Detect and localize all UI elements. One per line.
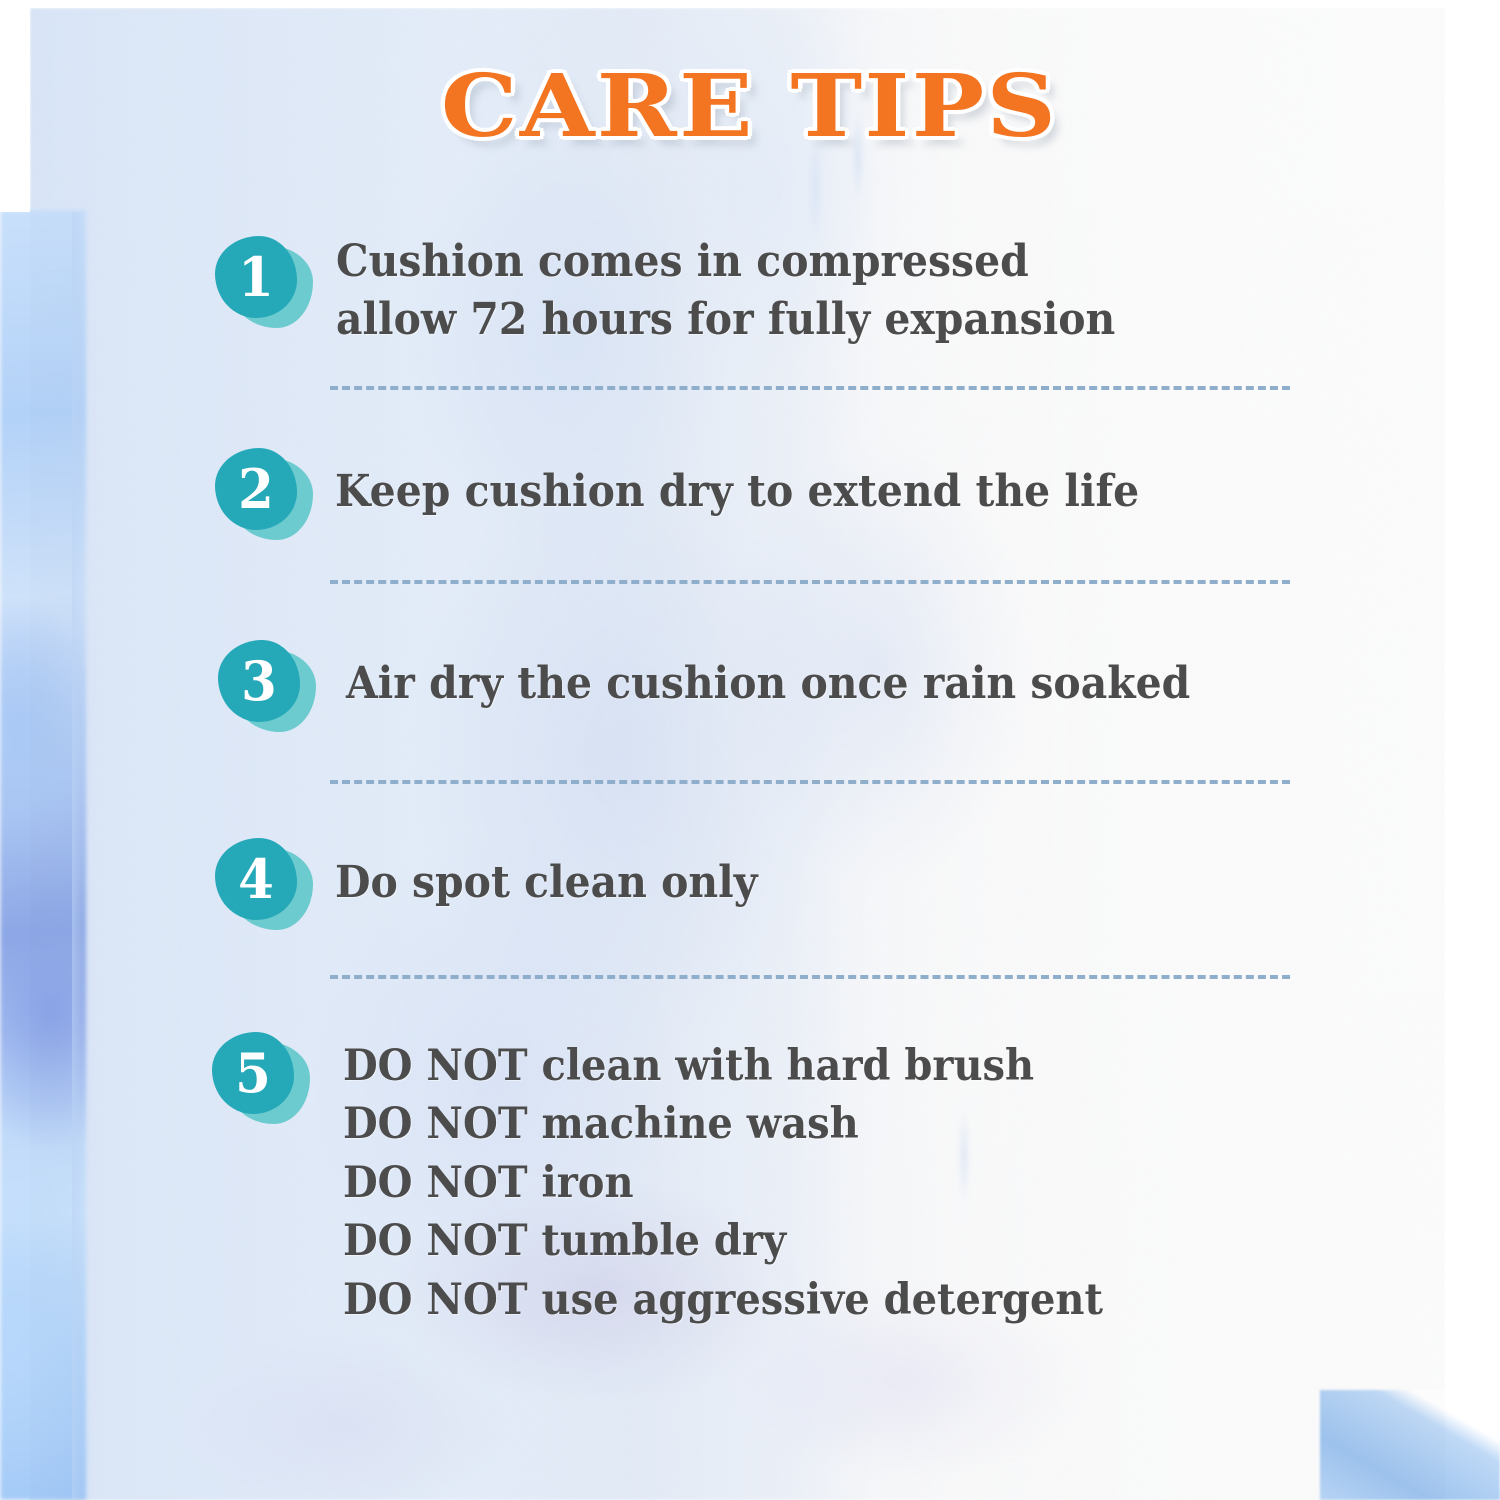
- divider-2: [330, 580, 1290, 584]
- tip-number-badge-5: 5: [212, 1032, 308, 1124]
- divider-4: [330, 975, 1290, 979]
- tip-text-3: Air dry the cushion once rain soaked: [346, 655, 1190, 713]
- tip-text-4: Do spot clean only: [335, 854, 757, 912]
- tip-number-badge-4: 4: [215, 838, 311, 930]
- divider-3: [330, 780, 1290, 784]
- tip-number-badge-2: 2: [215, 448, 311, 540]
- tip-number-badge-3: 3: [218, 640, 314, 732]
- tip-item-2: 2 Keep cushion dry to extend the life: [215, 448, 1200, 540]
- divider-1: [330, 386, 1290, 390]
- tip-number-2: 2: [217, 448, 295, 530]
- tip-item-5: 5 DO NOT clean with hard brush DO NOT ma…: [212, 1032, 1160, 1329]
- care-tips-infographic: CARE TIPS 1 Cushion comes in compressed …: [0, 0, 1500, 1500]
- tip-number-4: 4: [217, 838, 295, 920]
- tip-number-5: 5: [214, 1032, 292, 1114]
- tip-text-2: Keep cushion dry to extend the life: [335, 463, 1139, 521]
- tip-text-5: DO NOT clean with hard brush DO NOT mach…: [343, 1037, 1103, 1329]
- tip-item-3: 3 Air dry the cushion once rain soaked: [218, 640, 1254, 732]
- tip-number-3: 3: [220, 640, 298, 722]
- care-tips-list: 1 Cushion comes in compressed allow 72 h…: [0, 0, 1500, 1500]
- tip-item-1: 1 Cushion comes in compressed allow 72 h…: [215, 236, 1174, 349]
- tip-number-1: 1: [217, 236, 295, 318]
- tip-item-4: 4 Do spot clean only: [215, 838, 789, 930]
- tip-number-badge-1: 1: [215, 236, 311, 328]
- tip-text-1: Cushion comes in compressed allow 72 hou…: [336, 233, 1115, 349]
